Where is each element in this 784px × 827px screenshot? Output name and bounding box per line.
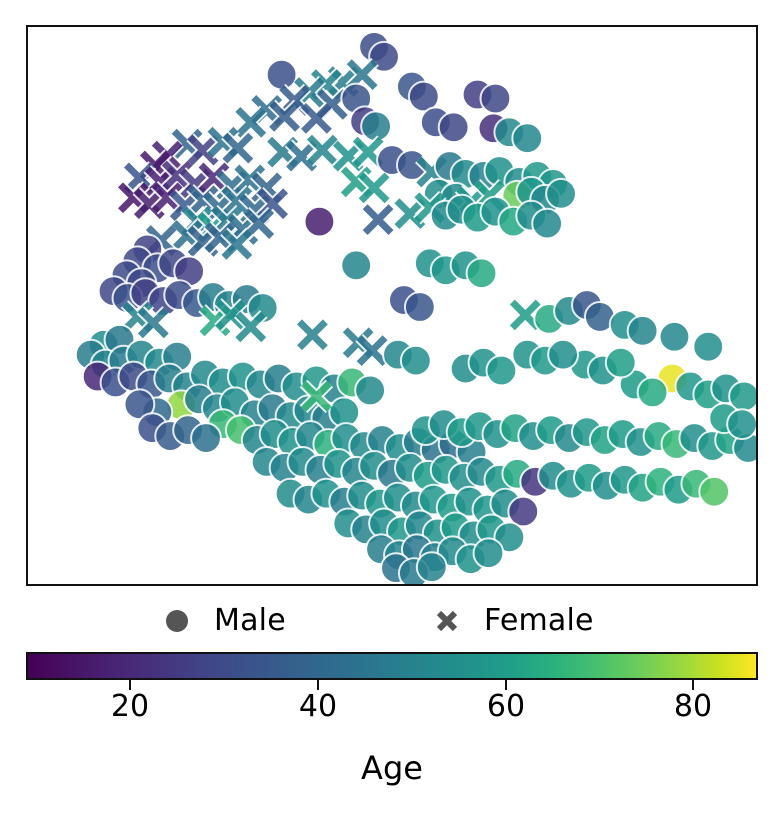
colorbar-ticklabel-60: 60 bbox=[487, 692, 525, 722]
scatter-figure: Male Female 20 40 60 80 Age bbox=[0, 0, 784, 827]
colorbar-axis-label: Age bbox=[0, 752, 784, 784]
colorbar-gradient bbox=[26, 652, 758, 680]
scatter-point-male bbox=[439, 112, 469, 142]
colorbar-ticklabel-20: 20 bbox=[111, 692, 149, 722]
scatter-point-female bbox=[365, 207, 391, 233]
scatter-point-male bbox=[191, 423, 221, 453]
scatter-point-male bbox=[481, 84, 511, 114]
scatter-point-male bbox=[405, 292, 435, 322]
scatter-point-female bbox=[300, 322, 326, 348]
scatter-point-male bbox=[548, 340, 578, 370]
colorbar-container bbox=[26, 652, 758, 680]
scatter-point-male bbox=[532, 209, 562, 239]
scatter-point-male bbox=[699, 477, 729, 507]
scatter-point-male bbox=[606, 348, 636, 378]
scatter-point-male bbox=[417, 552, 447, 582]
scatter-point-male bbox=[486, 356, 516, 386]
circle-marker-icon bbox=[160, 604, 194, 638]
scatter-point-male bbox=[628, 316, 658, 346]
scatter-point-male bbox=[474, 538, 504, 568]
scatter-point-male bbox=[341, 250, 371, 280]
scatter-point-male bbox=[512, 123, 542, 153]
colorbar-ticklabel-40: 40 bbox=[299, 692, 337, 722]
legend-entry-male[interactable]: Male bbox=[160, 596, 286, 646]
scatter-point-male bbox=[546, 179, 576, 209]
scatter-point-male bbox=[660, 322, 690, 352]
scatter-canvas bbox=[28, 27, 756, 584]
scatter-point-male bbox=[638, 377, 668, 407]
x-marker-icon bbox=[430, 604, 464, 638]
legend-label-male: Male bbox=[214, 606, 286, 636]
scatter-point-male bbox=[693, 332, 723, 362]
legend-label-female: Female bbox=[484, 606, 594, 636]
scatter-points-layer bbox=[28, 27, 756, 584]
plot-area bbox=[26, 25, 758, 586]
scatter-point-male bbox=[401, 346, 431, 376]
legend: Male Female bbox=[26, 596, 758, 646]
scatter-point-male bbox=[267, 60, 297, 90]
scatter-point-male bbox=[304, 207, 334, 237]
colorbar-ticklabel-80: 80 bbox=[674, 692, 712, 722]
scatter-point-male bbox=[727, 409, 756, 439]
legend-entry-female[interactable]: Female bbox=[430, 596, 594, 646]
scatter-point-male bbox=[355, 375, 385, 405]
scatter-point-male bbox=[467, 258, 497, 288]
